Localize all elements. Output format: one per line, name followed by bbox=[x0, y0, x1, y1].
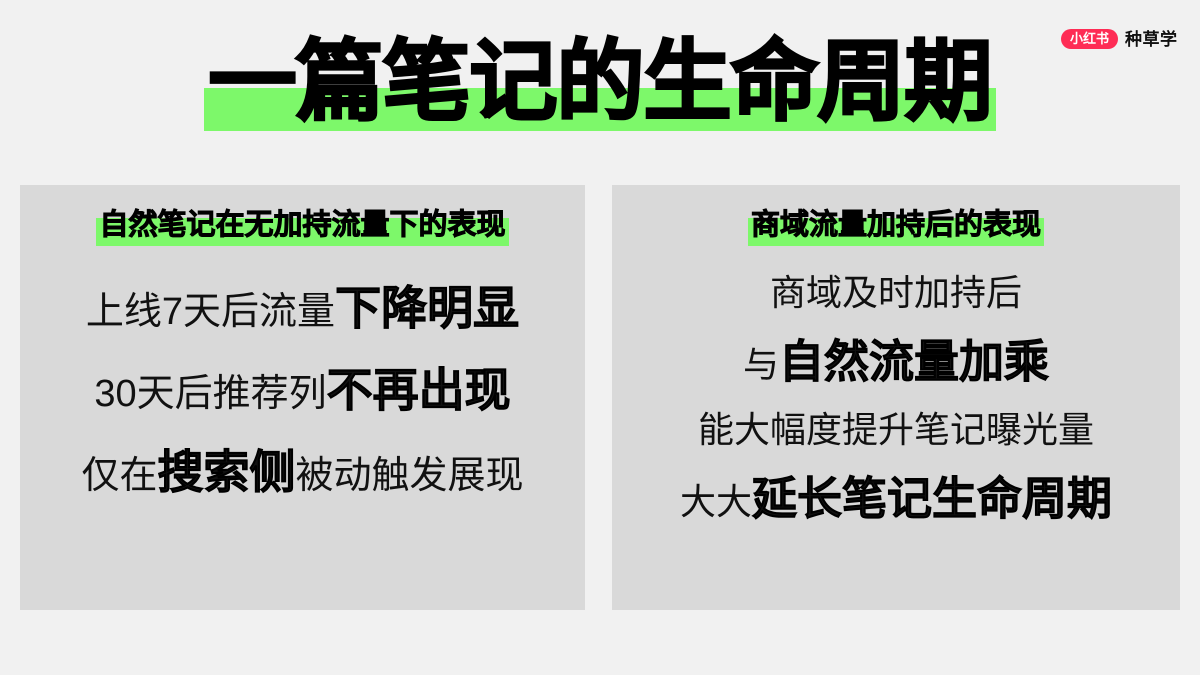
panel-header-commercial-text: 商域流量加持后的表现 bbox=[751, 209, 1041, 241]
list-item: 30天后推荐列不再出现 bbox=[20, 367, 585, 413]
line-segment: 被动触发展现 bbox=[296, 455, 524, 497]
panel-header-commercial: 商域流量加持后的表现 bbox=[612, 207, 1180, 245]
page-title-text: 一篇笔记的生命周期 bbox=[208, 32, 991, 131]
line-segment: 能大幅度提升笔记曝光量 bbox=[698, 409, 1094, 450]
list-item: 与自然流量加乘 bbox=[612, 339, 1180, 384]
line-segment-emphasis: 自然流量加乘 bbox=[779, 336, 1049, 387]
panel-body-commercial: 商域及时加持后 与自然流量加乘 能大幅度提升笔记曝光量 大大延长笔记生命周期 bbox=[612, 275, 1180, 521]
panel-header-natural: 自然笔记在无加持流量下的表现 bbox=[20, 207, 585, 245]
line-segment-emphasis: 延长笔记生命周期 bbox=[752, 473, 1112, 524]
panel-commercial-traffic: 商域流量加持后的表现 商域及时加持后 与自然流量加乘 能大幅度提升笔记曝光量 大… bbox=[612, 185, 1180, 610]
list-item: 商域及时加持后 bbox=[612, 275, 1180, 311]
page-title-inner: 一篇笔记的生命周期 bbox=[208, 38, 991, 126]
panel-header-natural-text: 自然笔记在无加持流量下的表现 bbox=[99, 209, 505, 241]
panel-body-natural: 上线7天后流量下降明显 30天后推荐列不再出现 仅在搜索侧被动触发展现 bbox=[20, 285, 585, 495]
panel-header-natural-inner: 自然笔记在无加持流量下的表现 bbox=[99, 207, 505, 245]
page-title: 一篇笔记的生命周期 bbox=[0, 38, 1200, 126]
line-segment-emphasis: 不再出现 bbox=[327, 364, 511, 416]
line-segment: 上线7天后流量 bbox=[86, 291, 335, 333]
list-item: 能大幅度提升笔记曝光量 bbox=[612, 412, 1180, 448]
list-item: 大大延长笔记生命周期 bbox=[612, 476, 1180, 521]
line-segment: 30天后推荐列 bbox=[94, 373, 326, 415]
slide-canvas: 小红书 种草学 一篇笔记的生命周期 自然笔记在无加持流量下的表现 上线7天后流量… bbox=[0, 0, 1200, 675]
line-segment-emphasis: 搜索侧 bbox=[158, 446, 296, 498]
list-item: 上线7天后流量下降明显 bbox=[20, 285, 585, 331]
line-segment-emphasis: 下降明显 bbox=[335, 282, 519, 334]
panel-header-commercial-inner: 商域流量加持后的表现 bbox=[751, 207, 1041, 245]
line-segment: 仅在 bbox=[81, 455, 157, 497]
line-segment: 大大 bbox=[680, 481, 752, 522]
line-segment: 商域及时加持后 bbox=[770, 272, 1022, 313]
line-segment: 与 bbox=[743, 344, 779, 385]
panel-natural-traffic: 自然笔记在无加持流量下的表现 上线7天后流量下降明显 30天后推荐列不再出现 仅… bbox=[20, 185, 585, 610]
list-item: 仅在搜索侧被动触发展现 bbox=[20, 449, 585, 495]
